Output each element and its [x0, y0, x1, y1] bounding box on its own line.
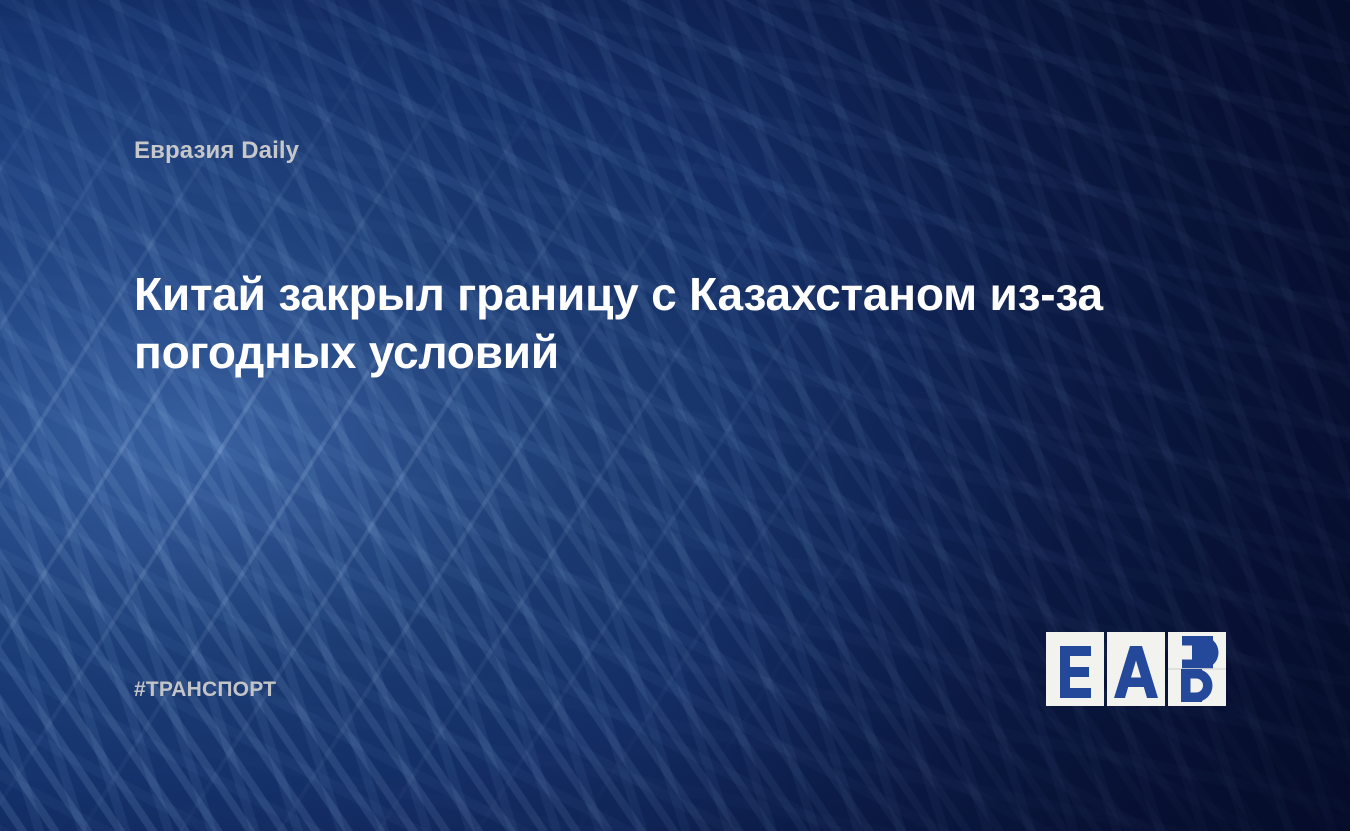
article-share-card: Евразия Daily Китай закрыл границу с Каз…: [0, 0, 1350, 831]
logo-tile-a: [1107, 632, 1165, 706]
logo-letter-e-icon: [1046, 632, 1104, 706]
logo-tile-e: [1046, 632, 1104, 706]
logo-letter-d-mark-icon: [1168, 632, 1228, 706]
article-headline: Китай закрыл границу с Казахстаном из-за…: [134, 266, 1194, 382]
logo-letter-a-icon: [1107, 632, 1165, 706]
site-name: Евразия Daily: [134, 137, 299, 165]
article-tag[interactable]: #ТРАНСПОРТ: [134, 678, 276, 702]
eadaily-logo[interactable]: [1046, 632, 1228, 706]
logo-d-shapes: [1168, 632, 1228, 706]
card-content: Евразия Daily Китай закрыл границу с Каз…: [0, 0, 1350, 831]
